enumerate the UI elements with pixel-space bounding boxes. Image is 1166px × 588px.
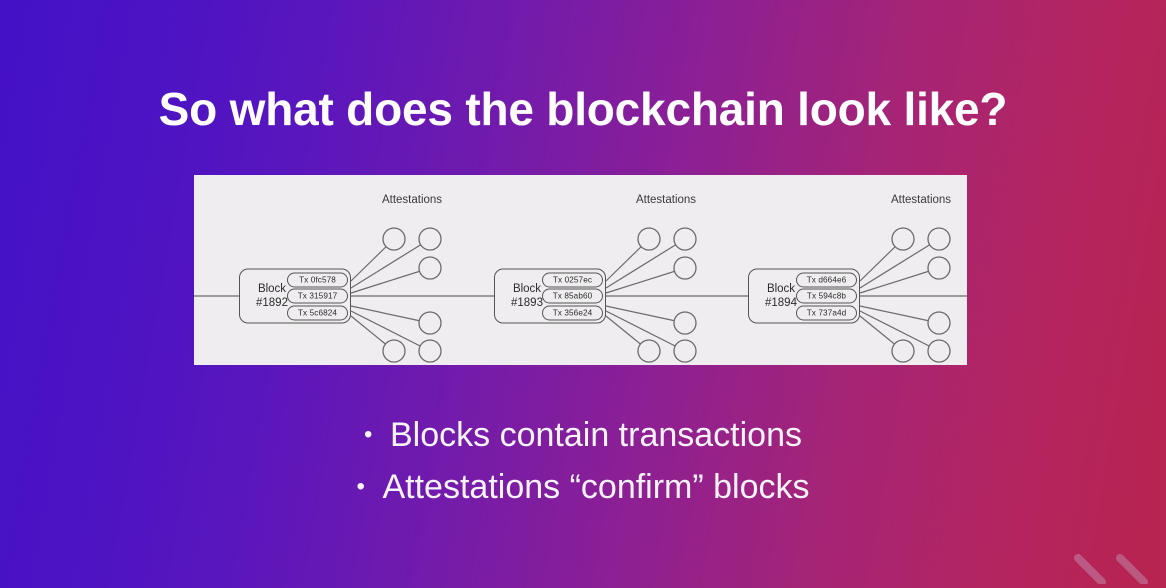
transaction-pill[interactable]: Tx 0257ec bbox=[542, 272, 603, 287]
transaction-pill[interactable]: Tx 737a4d bbox=[796, 305, 857, 320]
corner-logo-watermark bbox=[1062, 532, 1158, 584]
block-node-1893[interactable]: Block #1893 Tx 0257ec Tx 85ab60 Tx 356e2… bbox=[494, 269, 606, 324]
transaction-pill[interactable]: Tx 5c6824 bbox=[287, 305, 348, 320]
bullet-text: Attestations “confirm” blocks bbox=[382, 468, 809, 506]
transaction-pill[interactable]: Tx 315917 bbox=[287, 289, 348, 304]
bullet-point-icon: • bbox=[364, 410, 390, 460]
bullet-list: •Blocks contain transactions •Attestatio… bbox=[0, 408, 1166, 512]
transaction-pill[interactable]: Tx d664e6 bbox=[796, 272, 857, 287]
transaction-pill[interactable]: Tx 85ab60 bbox=[542, 289, 603, 304]
attestations-label-block-2: Attestations bbox=[636, 194, 696, 206]
block-number-1892: #1892 bbox=[256, 297, 288, 309]
bullet-point-icon: • bbox=[356, 462, 382, 512]
block-node-1892[interactable]: Block #1892 Tx 0fc578 Tx 315917 Tx 5c682… bbox=[239, 269, 351, 324]
attestation-links-block-3 bbox=[860, 239, 939, 351]
bullet-text: Blocks contain transactions bbox=[390, 416, 802, 454]
blockchain-diagram-panel: Attestations Attestations Attestations B… bbox=[194, 175, 967, 365]
list-item: •Blocks contain transactions bbox=[0, 408, 1166, 460]
block-name-1894: Block bbox=[767, 283, 795, 295]
transaction-pill[interactable]: Tx 0fc578 bbox=[287, 272, 348, 287]
block-number-1894: #1894 bbox=[765, 297, 797, 309]
block-name-1893: Block bbox=[513, 283, 541, 295]
attestation-links-block-2 bbox=[606, 239, 685, 351]
block-number-1893: #1893 bbox=[511, 297, 543, 309]
transaction-stack-1893: Tx 0257ec Tx 85ab60 Tx 356e24 bbox=[542, 272, 603, 320]
block-name-1892: Block bbox=[258, 283, 286, 295]
attestations-label-block-3: Attestations bbox=[891, 194, 951, 206]
transaction-pill[interactable]: Tx 356e24 bbox=[542, 305, 603, 320]
page-title: So what does the blockchain look like? bbox=[0, 82, 1166, 136]
transaction-stack-1894: Tx d664e6 Tx 594c8b Tx 737a4d bbox=[796, 272, 857, 320]
list-item: •Attestations “confirm” blocks bbox=[0, 460, 1166, 512]
attestation-links-block-1 bbox=[351, 239, 430, 351]
transaction-pill[interactable]: Tx 594c8b bbox=[796, 289, 857, 304]
transaction-stack-1892: Tx 0fc578 Tx 315917 Tx 5c6824 bbox=[287, 272, 348, 320]
block-node-1894[interactable]: Block #1894 Tx d664e6 Tx 594c8b Tx 737a4… bbox=[748, 269, 860, 324]
attestations-label-block-1: Attestations bbox=[382, 194, 442, 206]
